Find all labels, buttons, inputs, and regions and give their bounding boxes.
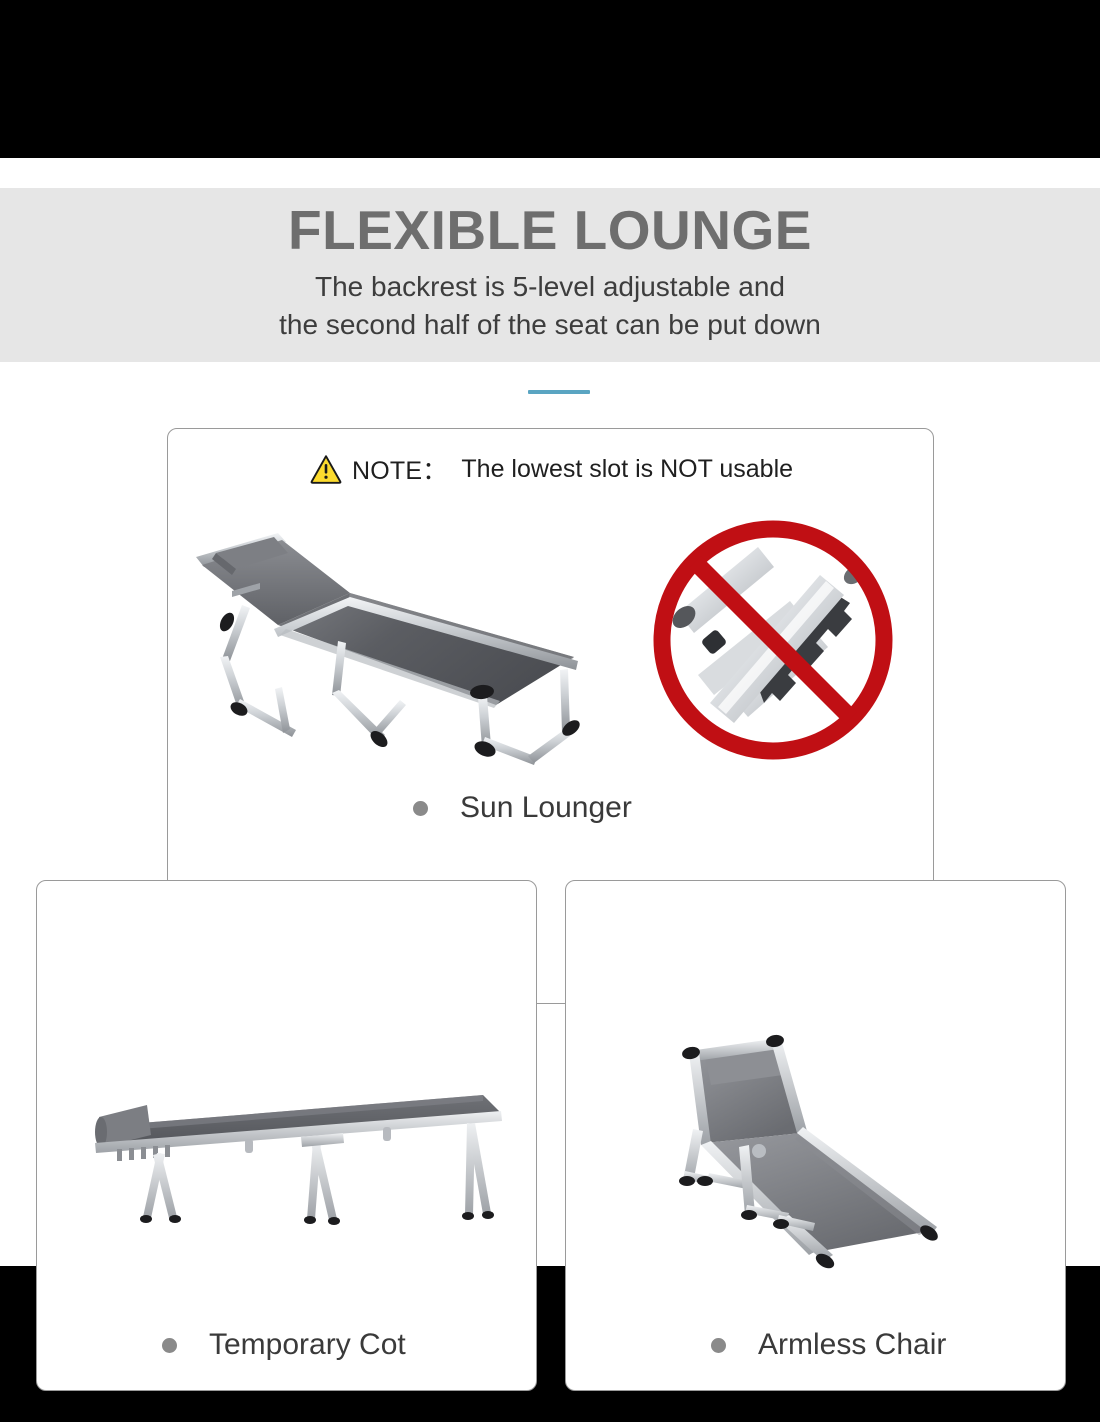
note-label: NOTE：	[352, 451, 447, 487]
sun-lounger-photo	[182, 509, 612, 771]
subtitle-line-1: The backrest is 5-level adjustable and	[0, 268, 1100, 307]
product-label-sun-lounger: Sun Lounger	[460, 791, 632, 825]
card-armless-chair: Armless Chair	[565, 880, 1066, 1391]
card-temporary-cot: Temporary Cot	[36, 880, 537, 1391]
accent-divider	[528, 390, 590, 394]
product-label-armless-chair: Armless Chair	[758, 1328, 946, 1362]
armless-chair-photo	[661, 1021, 1021, 1271]
subtitle-line-2: the second half of the seat can be put d…	[0, 306, 1100, 345]
bullet-icon	[711, 1338, 726, 1353]
temporary-cot-photo	[65, 1051, 515, 1231]
label-row-armless-chair: Armless Chair	[711, 1328, 946, 1362]
letterbox-top-bar	[0, 0, 1100, 158]
page-subtitle: The backrest is 5-level adjustable and t…	[0, 260, 1100, 345]
content-canvas: FLEXIBLE LOUNGE The backrest is 5-level …	[0, 158, 1100, 1266]
header-banner: FLEXIBLE LOUNGE The backrest is 5-level …	[0, 188, 1100, 362]
recline-slot-prohibited-photo	[638, 505, 908, 775]
warning-triangle-icon	[310, 454, 342, 484]
label-row-temporary-cot: Temporary Cot	[162, 1328, 406, 1362]
bullet-icon	[162, 1338, 177, 1353]
note-row: NOTE： The lowest slot is NOT usable	[168, 451, 935, 487]
page-title: FLEXIBLE LOUNGE	[0, 188, 1100, 260]
note-text: The lowest slot is NOT usable	[461, 455, 793, 484]
product-detail-page: FLEXIBLE LOUNGE The backrest is 5-level …	[0, 0, 1100, 1422]
bullet-icon	[413, 801, 428, 816]
product-label-temporary-cot: Temporary Cot	[209, 1328, 406, 1362]
label-row-sun-lounger: Sun Lounger	[413, 791, 632, 825]
